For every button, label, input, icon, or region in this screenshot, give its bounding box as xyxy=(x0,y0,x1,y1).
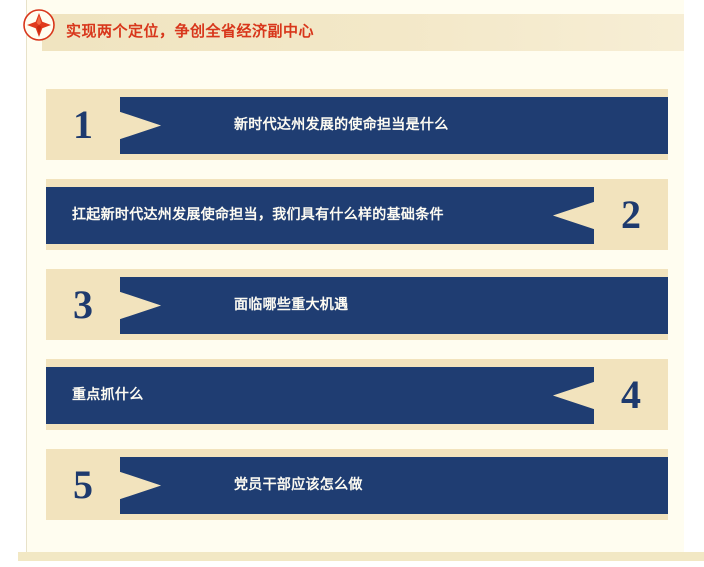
step-row-3[interactable]: 3 面临哪些重大机遇 xyxy=(46,269,668,340)
step-bar-5: 党员干部应该怎么做 xyxy=(120,457,668,514)
step-row-2[interactable]: 2 扛起新时代达州发展使命担当，我们具有什么样的基础条件 xyxy=(46,179,668,250)
step-label-4: 重点抓什么 xyxy=(72,367,144,424)
step-row-1[interactable]: 1 新时代达州发展的使命担当是什么 xyxy=(46,89,668,160)
step-label-5: 党员干部应该怎么做 xyxy=(234,457,363,514)
step-bar-4: 重点抓什么 xyxy=(46,367,594,424)
step-number-1: 1 xyxy=(46,89,120,160)
star-diamond-icon xyxy=(22,8,56,42)
step-number-2: 2 xyxy=(594,179,668,250)
step-bar-3: 面临哪些重大机遇 xyxy=(120,277,668,334)
step-number-4: 4 xyxy=(594,359,668,430)
step-label-1: 新时代达州发展的使命担当是什么 xyxy=(234,97,449,154)
step-bar-2: 扛起新时代达州发展使命担当，我们具有什么样的基础条件 xyxy=(46,187,594,244)
step-row-5[interactable]: 5 党员干部应该怎么做 xyxy=(46,449,668,520)
step-label-3: 面临哪些重大机遇 xyxy=(234,277,348,334)
step-bar-1: 新时代达州发展的使命担当是什么 xyxy=(120,97,668,154)
bottom-accent-bar xyxy=(18,552,704,561)
infographic-root: 实现两个定位，争创全省经济副中心 1 新时代达州发展的使命担当是什么 2 扛起新… xyxy=(0,0,704,567)
page-title: 实现两个定位，争创全省经济副中心 xyxy=(66,22,314,40)
step-row-4[interactable]: 4 重点抓什么 xyxy=(46,359,668,430)
step-number-3: 3 xyxy=(46,269,120,340)
step-number-5: 5 xyxy=(46,449,120,520)
step-label-2: 扛起新时代达州发展使命担当，我们具有什么样的基础条件 xyxy=(72,187,444,244)
